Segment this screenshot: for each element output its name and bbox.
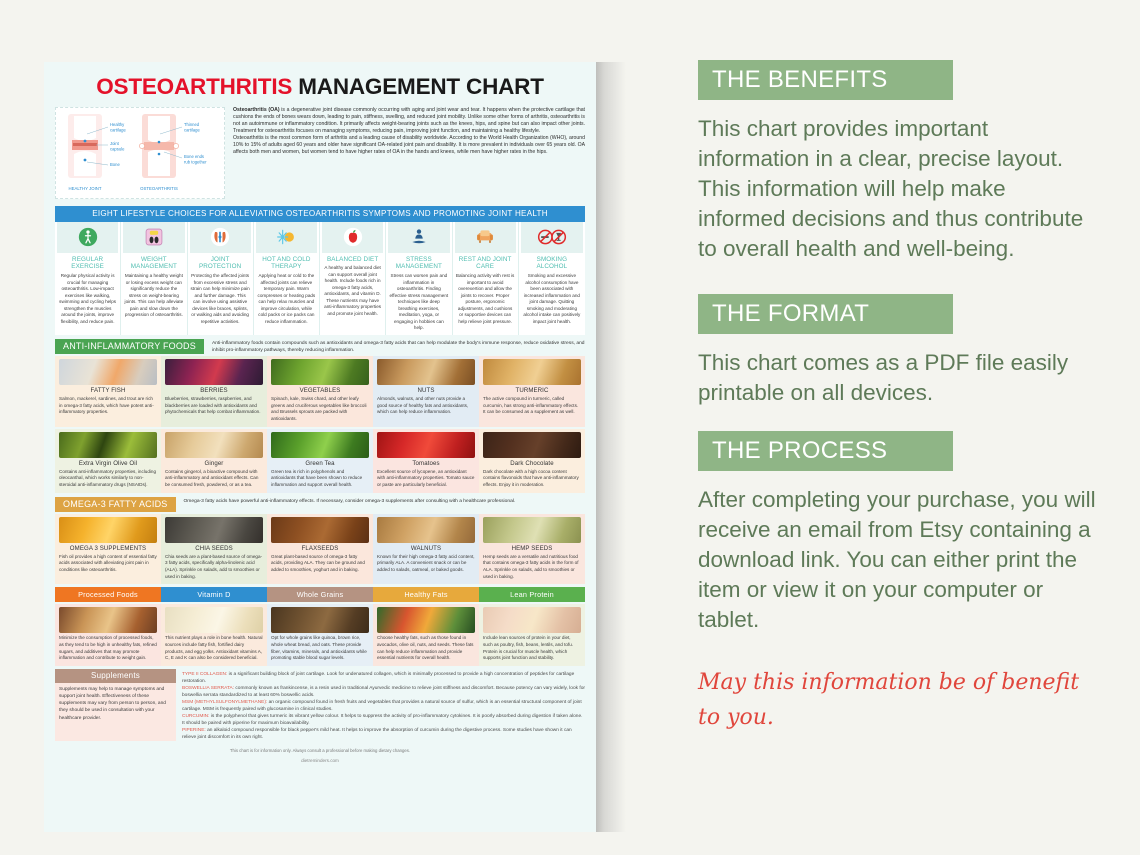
title-black-part: MANAGEMENT CHART [292, 74, 544, 99]
svg-text:capsule: capsule [110, 146, 125, 151]
page-title: OSTEOARTHRITIS MANAGEMENT CHART [55, 76, 585, 99]
food-card: TURMERICThe active compound in turmeric,… [479, 356, 585, 427]
food-card: Dark ChocolateDark chocolate with a high… [479, 429, 585, 493]
food-card: CHIA SEEDSChia seeds are a plant-based s… [161, 514, 267, 585]
intro-paragraph-2: Osteoarthritis is the most common form o… [233, 135, 585, 156]
food-title: FATTY FISH [59, 387, 157, 394]
supplement-text: commonly known as frankincense, is a res… [182, 686, 585, 698]
omega3-section-bar: OMEGA-3 FATTY ACIDS Omega-3 fatty acids … [55, 497, 585, 512]
lifestyle-body: Protecting the affected joints from exce… [190, 273, 251, 328]
food-description: Green tea is rich in polyphenols and ant… [271, 469, 369, 489]
svg-text:OSTEOARTHRITIS: OSTEOARTHRITIS [140, 186, 178, 191]
lifestyle-column: SMOKING ALCOHOLSmoking and excessive alc… [519, 222, 585, 335]
intro-text: Osteoarthritis (OA) is a degenerative jo… [233, 107, 585, 157]
process-text: After completing your purchase, you will… [698, 485, 1098, 635]
food-description: Dark chocolate with a high cocoa content… [483, 469, 581, 489]
food-card: FLAXSEEDSGreat plant-based source of ome… [267, 514, 373, 585]
supplement-key: TYPE II COLLAGEN: [182, 672, 227, 677]
food-card: FATTY FISHSalmon, mackerel, sardines, an… [55, 356, 161, 427]
lifestyle-column: HOT AND COLD THERAPYApplying heat or col… [254, 222, 320, 335]
lifestyle-title: BALANCED DIET [322, 253, 383, 266]
lifestyle-title: WEIGHT MANAGEMENT [123, 253, 184, 274]
spacer-1 [698, 264, 1098, 294]
food-description: Great plant-based source of omega-3 fatt… [271, 554, 369, 574]
svg-text:cartilage: cartilage [110, 127, 126, 132]
meditation-icon [388, 222, 449, 253]
supplement-item: MSM (METHYLSULFONYLMETHANE): an organic … [182, 699, 585, 713]
healthy-fats-photo [377, 607, 475, 633]
category-tab[interactable]: Whole Grains [267, 587, 373, 602]
category-tab[interactable]: Vitamin D [161, 587, 267, 602]
food-card: NUTSAlmonds, walnuts, and other nuts pro… [373, 356, 479, 427]
lifestyle-title: STRESS MANAGEMENT [388, 253, 449, 274]
food-description: Hemp seeds are a versatile and nutritiou… [483, 554, 581, 581]
lifestyle-band-heading: EIGHT LIFESTYLE CHOICES FOR ALLEVIATING … [55, 206, 585, 222]
food-description: Blueberries, strawberries, raspberries, … [165, 396, 263, 416]
food-description: Minimize the consumption of processed fo… [59, 635, 157, 662]
food-description: Opt for whole grains like quinoa, brown … [271, 635, 369, 662]
marketing-panel: THE BENEFITS This chart provides importa… [698, 60, 1098, 735]
lifestyle-body: Smoking and excessive alcohol consumptio… [521, 273, 583, 328]
lifestyle-grid: REGULAR EXERCISERegular physical activit… [55, 222, 585, 335]
food-description: Spinach, kale, Swiss chard, and other le… [271, 396, 369, 423]
vitamin-d-foods-photo [165, 607, 263, 633]
olive-oil-photo [59, 432, 157, 458]
weight-scale-icon [123, 222, 184, 253]
supplement-text: is the polyphenol that gives turmeric it… [182, 714, 582, 726]
supplement-item: TYPE II COLLAGEN: is a significant build… [182, 671, 585, 685]
food-description: Known for their high omega-3 fatty acid … [377, 554, 475, 574]
lifestyle-body: Stress can worsen pain and inflammation … [388, 273, 449, 335]
lifestyle-body: Applying heat or cold to the affected jo… [256, 273, 317, 328]
joint-comparison-illustration: HEALTHY JOINT OSTEOARTHRITIS Heal [56, 108, 224, 198]
food-card: This nutrient plays a role in bone healt… [161, 604, 267, 666]
supplement-text: an alkaloid compound responsible for bla… [182, 728, 572, 740]
lifestyle-title: JOINT PROTECTION [190, 253, 251, 274]
supplement-key: CURCUMIN: [182, 714, 209, 719]
supplement-item: PIPERINE: an alkaloid compound responsib… [182, 727, 585, 741]
supplements-items: TYPE II COLLAGEN: is a significant build… [176, 669, 585, 741]
format-heading: THE FORMAT [698, 294, 953, 334]
food-description: Fish oil provides a high content of esse… [59, 554, 157, 574]
supplements-left: Supplements Supplements may help to mana… [55, 669, 176, 741]
chia-seeds-photo [165, 517, 263, 543]
osteoarthritis-management-chart: OSTEOARTHRITIS MANAGEMENT CHART HEALTHY … [44, 62, 596, 832]
lifestyle-body: A healthy and balanced diet can support … [322, 265, 383, 320]
supplement-key: BOSWELLIA SERRATA: [182, 686, 234, 691]
lifestyle-column: JOINT PROTECTIONProtecting the affected … [188, 222, 254, 335]
category-tab[interactable]: Healthy Fats [373, 587, 479, 602]
svg-text:rub together: rub together [184, 159, 207, 164]
lifestyle-column: WEIGHT MANAGEMENTMaintaining a healthy w… [121, 222, 187, 335]
benefits-heading: THE BENEFITS [698, 60, 953, 100]
turmeric-photo [483, 359, 581, 385]
intro-row: HEALTHY JOINT OSTEOARTHRITIS Heal [55, 107, 585, 199]
food-title: BERRIES [165, 387, 263, 394]
svg-text:Thinned: Thinned [184, 122, 200, 127]
omega3-description: Omega-3 fatty acids have powerful anti-i… [176, 497, 586, 505]
food-description: Chia seeds are a plant-based source of o… [165, 554, 263, 581]
foods-row-2: Extra Virgin Olive OilContains anti-infl… [55, 429, 585, 493]
intro-paragraph-1: is a degenerative joint disease commonly… [233, 107, 585, 134]
vegetables-photo [271, 359, 369, 385]
food-title: TURMERIC [483, 387, 581, 394]
svg-text:Bone: Bone [110, 162, 120, 167]
lifestyle-column: REGULAR EXERCISERegular physical activit… [55, 222, 121, 335]
lifestyle-column: BALANCED DIETA healthy and balanced diet… [320, 222, 386, 335]
svg-text:Healthy: Healthy [110, 122, 125, 127]
svg-text:cartilage: cartilage [184, 127, 200, 132]
fatty-fish-photo [59, 359, 157, 385]
food-card: WALNUTSKnown for their high omega-3 fatt… [373, 514, 479, 585]
supplement-text: is a significant building block of joint… [182, 672, 574, 684]
walnuts-photo [377, 517, 475, 543]
svg-text:HEALTHY JOINT: HEALTHY JOINT [68, 186, 101, 191]
food-title: NUTS [377, 387, 475, 394]
food-title: OMEGA 3 SUPPLEMENTS [59, 545, 157, 552]
hemp-seeds-photo [483, 517, 581, 543]
food-card: VEGETABLESSpinach, kale, Swiss chard, an… [267, 356, 373, 427]
food-description: Choose healthy fats, such as those found… [377, 635, 475, 662]
supplement-item: BOSWELLIA SERRATA: commonly known as fra… [182, 685, 585, 699]
berries-photo [165, 359, 263, 385]
supplements-header: Supplements [55, 669, 176, 683]
lifestyle-title: REGULAR EXERCISE [57, 253, 118, 274]
food-title: WALNUTS [377, 545, 475, 552]
lifestyle-title: HOT AND COLD THERAPY [256, 253, 317, 274]
food-description: This nutrient plays a role in bone healt… [165, 635, 263, 662]
dark-chocolate-photo [483, 432, 581, 458]
food-title: Tomatoes [377, 460, 475, 467]
lifestyle-title: SMOKING ALCOHOL [521, 253, 583, 274]
footnote-text: This chart is for information only. Alwa… [230, 748, 410, 753]
food-card: Include lean sources of protein in your … [479, 604, 585, 666]
food-card: Green TeaGreen tea is rich in polyphenol… [267, 429, 373, 493]
nuts-photo [377, 359, 475, 385]
fish-oil-capsules-photo [59, 517, 157, 543]
benefits-text: This chart provides important informatio… [698, 114, 1098, 264]
food-card: OMEGA 3 SUPPLEMENTSFish oil provides a h… [55, 514, 161, 585]
closing-script-text: May this information be of benefit to yo… [698, 665, 1098, 735]
flaxseeds-photo [271, 517, 369, 543]
apple-icon [322, 222, 383, 253]
hot-cold-icon [256, 222, 317, 253]
lifestyle-title: REST AND JOINT CARE [455, 253, 516, 274]
food-card: HEMP SEEDSHemp seeds are a versatile and… [479, 514, 585, 585]
food-description: Excellent source of lycopene, an antioxi… [377, 469, 475, 489]
food-card: GingerContains gingerol, a bioactive com… [161, 429, 267, 493]
food-description: Include lean sources of protein in your … [483, 635, 581, 662]
foods-row-3: OMEGA 3 SUPPLEMENTSFish oil provides a h… [55, 514, 585, 585]
screenshot-root: OSTEOARTHRITIS MANAGEMENT CHART HEALTHY … [0, 0, 1140, 855]
lifestyle-body: Balancing activity with rest is importan… [455, 273, 516, 328]
food-title: FLAXSEEDS [271, 545, 369, 552]
green-tea-photo [271, 432, 369, 458]
lifestyle-column: STRESS MANAGEMENTStress can worsen pain … [386, 222, 452, 335]
food-title: Green Tea [271, 460, 369, 467]
food-description: Contains anti-inflammatory properties, i… [59, 469, 157, 489]
lifestyle-column: REST AND JOINT CAREBalancing activity wi… [453, 222, 519, 335]
omega3-label: OMEGA-3 FATTY ACIDS [55, 497, 176, 512]
supplement-item: CURCUMIN: is the polyphenol that gives t… [182, 713, 585, 727]
protective-hands-icon [190, 222, 251, 253]
website-url: dietreminders.com [55, 757, 585, 765]
anti-inflammatory-section-bar: ANTI-INFLAMMATORY FOODS Anti-inflammator… [55, 339, 585, 354]
food-description: Salmon, mackerel, sardines, and trout ar… [59, 396, 157, 416]
process-heading: THE PROCESS [698, 431, 953, 471]
joint-diagram: HEALTHY JOINT OSTEOARTHRITIS Heal [55, 107, 225, 199]
walking-person-icon [57, 222, 118, 253]
food-description: Almonds, walnuts, and other nuts provide… [377, 396, 475, 416]
food-title: Ginger [165, 460, 263, 467]
supplements-section: Supplements Supplements may help to mana… [55, 669, 585, 741]
lean-protein-photo [483, 607, 581, 633]
food-card: Choose healthy fats, such as those found… [373, 604, 479, 666]
supplements-body: Supplements may help to manage symptoms … [55, 683, 176, 725]
anti-inflammatory-description: Anti-inflammatory foods contain compound… [204, 339, 585, 354]
title-red-part: OSTEOARTHRITIS [96, 74, 292, 99]
food-title: Dark Chocolate [483, 460, 581, 467]
food-title: Extra Virgin Olive Oil [59, 460, 157, 467]
lifestyle-body: Regular physical activity is crucial for… [57, 273, 118, 328]
spacer-2 [698, 407, 1098, 431]
svg-text:Bone ends: Bone ends [184, 154, 204, 159]
foods-row-4: Minimize the consumption of processed fo… [55, 604, 585, 666]
tomatoes-photo [377, 432, 475, 458]
supplement-key: PIPERINE: [182, 728, 206, 733]
foods-row-1: FATTY FISHSalmon, mackerel, sardines, an… [55, 356, 585, 427]
food-description: The active compound in turmeric, called … [483, 396, 581, 416]
supplement-key: MSM (METHYLSULFONYLMETHANE): [182, 700, 267, 705]
food-title: VEGETABLES [271, 387, 369, 394]
category-tab[interactable]: Lean Protein [479, 587, 585, 602]
category-tab-row: Processed FoodsVitamin DWhole GrainsHeal… [55, 587, 585, 602]
processed-foods-photo [59, 607, 157, 633]
food-title: CHIA SEEDS [165, 545, 263, 552]
food-card: TomatoesExcellent source of lycopene, an… [373, 429, 479, 493]
no-smoking-no-alcohol-icon [521, 222, 583, 253]
anti-inflammatory-label: ANTI-INFLAMMATORY FOODS [55, 339, 204, 354]
food-description: Contains gingerol, a bioactive compound … [165, 469, 263, 489]
lifestyle-body: Maintaining a healthy weight or losing e… [123, 273, 184, 322]
food-card: Extra Virgin Olive OilContains anti-infl… [55, 429, 161, 493]
poster-preview[interactable]: OSTEOARTHRITIS MANAGEMENT CHART HEALTHY … [44, 62, 604, 832]
food-title: HEMP SEEDS [483, 545, 581, 552]
food-card: Opt for whole grains like quinoa, brown … [267, 604, 373, 666]
armchair-icon [455, 222, 516, 253]
svg-text:Joint: Joint [110, 141, 120, 146]
food-card: BERRIESBlueberries, strawberries, raspbe… [161, 356, 267, 427]
whole-grains-photo [271, 607, 369, 633]
format-text: This chart comes as a PDF file easily pr… [698, 348, 1098, 408]
category-tab[interactable]: Processed Foods [55, 587, 161, 602]
intro-lead: Osteoarthritis (OA) [233, 107, 280, 113]
ginger-photo [165, 432, 263, 458]
poster-footnote: This chart is for information only. Alwa… [55, 747, 585, 765]
food-card: Minimize the consumption of processed fo… [55, 604, 161, 666]
